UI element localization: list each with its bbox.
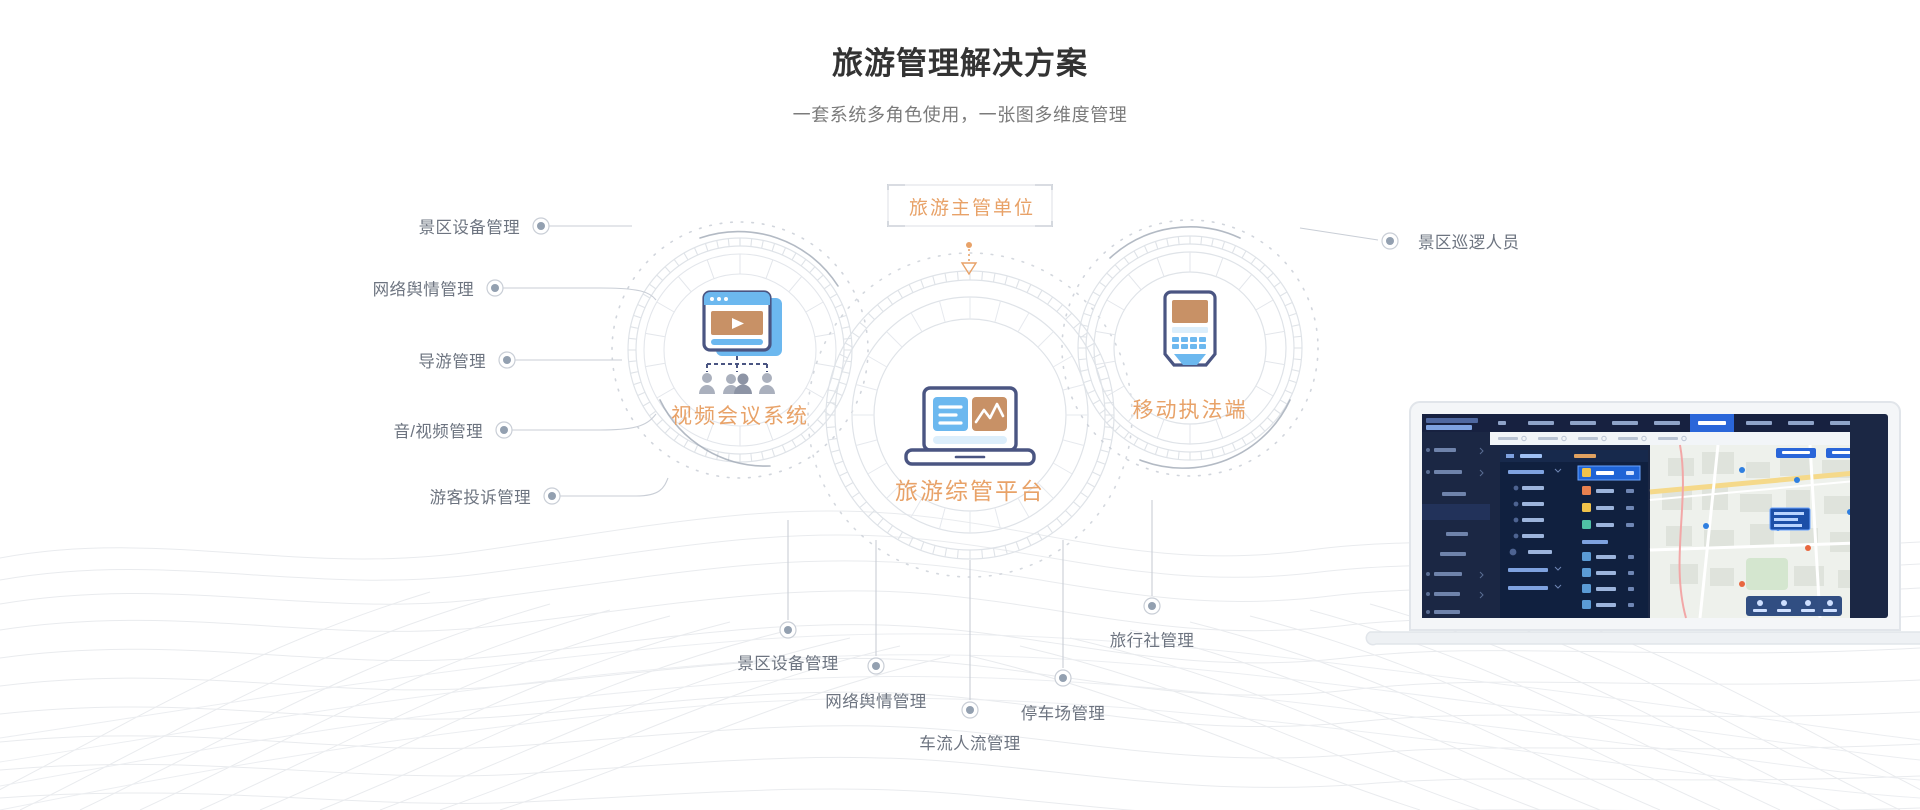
authority-label[interactable]: 旅游主管单位: [889, 183, 1055, 229]
node-label-mobile-enforcement[interactable]: 移动执法端: [1133, 394, 1248, 424]
left-label-network-opinion[interactable]: 网络舆情管理: [373, 276, 474, 300]
page-title: 旅游管理解决方案: [0, 44, 1920, 84]
left-label-tour-guide[interactable]: 导游管理: [418, 348, 486, 372]
bottom-label-parking-lot[interactable]: 停车场管理: [1021, 700, 1106, 724]
left-label-scenic-equipment[interactable]: 景区设备管理: [419, 214, 520, 238]
left-connectors: [503, 226, 668, 496]
page-subtitle: 一套系统多角色使用，一张图多维度管理: [0, 101, 1920, 127]
handheld-device-icon: [1165, 292, 1215, 365]
authority-connector: [962, 242, 976, 274]
video-window-icon: [699, 292, 782, 394]
right-label-scenic-patrol[interactable]: 景区巡逻人员: [1418, 229, 1519, 253]
bottom-label-traffic-flow[interactable]: 车流人流管理: [919, 730, 1020, 754]
bottom-label-scenic-equipment[interactable]: 景区设备管理: [737, 650, 838, 674]
left-label-audio-video[interactable]: 音/视频管理: [394, 418, 483, 442]
node-label-video-conference[interactable]: 视频会议系统: [671, 400, 809, 430]
laptop-mockup: [1350, 400, 1920, 680]
node-label-tourism-platform[interactable]: 旅游综管平台: [895, 472, 1045, 506]
left-connector-dots: [487, 218, 560, 504]
right-connectors: [1300, 228, 1398, 249]
left-label-visitor-complaint[interactable]: 游客投诉管理: [430, 484, 531, 508]
bottom-label-network-opinion[interactable]: 网络舆情管理: [825, 688, 926, 712]
bottom-label-travel-agency[interactable]: 旅行社管理: [1110, 627, 1195, 651]
infographic-canvas: 旅游管理解决方案 一套系统多角色使用，一张图多维度管理: [0, 0, 1920, 810]
header-block: 旅游管理解决方案 一套系统多角色使用，一张图多维度管理: [0, 44, 1920, 127]
laptop-dashboard-icon: [906, 388, 1034, 464]
